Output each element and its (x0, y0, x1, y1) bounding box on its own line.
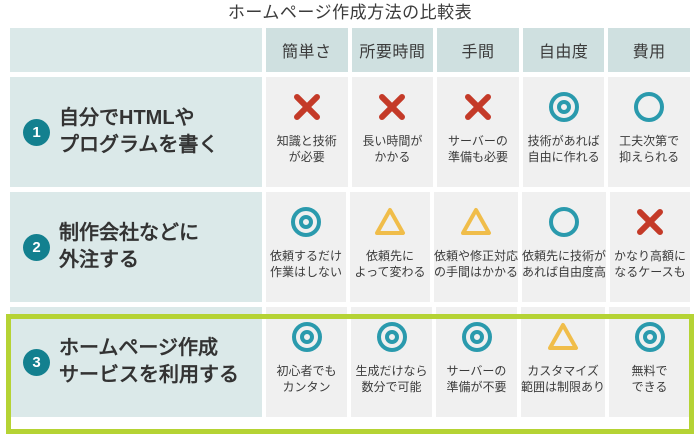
cell-caption: サーバーの 準備が不要 (446, 363, 506, 395)
caption-line2: 抑えられる (619, 149, 679, 165)
row-title-line2: サービスを利用する (59, 362, 239, 389)
caption-line1: 技術があれば (528, 133, 600, 149)
column-header-label: 手間 (461, 38, 494, 62)
caption-line2: 数分で可能 (355, 379, 427, 395)
cell-caption: 依頼先に技術が あれば自由度高 (522, 248, 606, 280)
circle-icon (547, 196, 581, 248)
double-circle-icon (460, 311, 494, 363)
caption-line2: カンタン (276, 379, 336, 395)
cell-caption: 技術があれば 自由に作れる (528, 133, 600, 165)
header-corner-cell (10, 28, 262, 72)
comparison-table-figure: ホームページ作成方法の比較表 簡単さ 所要時間 手間 自由度 費用 (0, 0, 700, 441)
table-cell: 依頼や修正対応 の手間はかかる (434, 192, 518, 302)
caption-line2: なるケースも (614, 264, 686, 280)
cross-icon (290, 81, 324, 133)
triangle-icon (546, 311, 580, 363)
column-header-label: 自由度 (539, 38, 589, 62)
caption-line2: 自由に作れる (528, 149, 600, 165)
row-number-badge: 2 (23, 234, 50, 261)
caption-line2: 準備が不要 (446, 379, 506, 395)
table-cell: 初心者でも カンタン (266, 307, 347, 417)
caption-line2: よって変わる (354, 264, 425, 280)
circle-icon (632, 81, 666, 133)
row-title: 自分でHTMLや プログラムを書く (59, 105, 218, 159)
row-number-badge: 3 (23, 349, 50, 376)
table-row: 1 自分でHTMLや プログラムを書く 知識と技術 が必要 (10, 77, 690, 187)
table-cell: 依頼先に技術が あれば自由度高 (522, 192, 606, 302)
row-number-badge: 1 (23, 119, 50, 146)
cell-caption: 無料で できる (632, 363, 668, 395)
cross-icon (461, 81, 495, 133)
cell-caption: 依頼するだけ 作業はしない (270, 248, 342, 280)
row-label-cell: 1 自分でHTMLや プログラムを書く (10, 77, 262, 187)
triangle-icon (459, 196, 493, 248)
table-cell: サーバーの 準備も必要 (437, 77, 519, 187)
cell-caption: カスタマイズ 範囲は制限あり (521, 363, 605, 395)
table-cell: カスタマイズ 範囲は制限あり (521, 307, 605, 417)
caption-line1: カスタマイズ (521, 363, 605, 379)
table-cell: かなり高額に なるケースも (610, 192, 690, 302)
column-header-label: 所要時間 (359, 38, 425, 62)
triangle-icon (373, 196, 407, 248)
row-title-line1: 制作会社などに (59, 220, 199, 247)
caption-line1: 無料で (632, 363, 668, 379)
caption-line1: 依頼や修正対応 (434, 248, 518, 264)
double-circle-icon (290, 311, 324, 363)
caption-line1: 依頼するだけ (270, 248, 342, 264)
caption-line1: 工夫次第で (619, 133, 679, 149)
cross-icon (375, 81, 409, 133)
table-row: 2 制作会社などに 外注する 依頼するだけ 作業はしない (10, 192, 690, 302)
column-header-effort: 手間 (437, 28, 519, 72)
row-label-cell: 3 ホームページ作成 サービスを利用する (10, 307, 262, 417)
row-title-line1: ホームページ作成 (59, 335, 239, 362)
caption-line1: 知識と技術 (277, 133, 337, 149)
caption-line1: 生成だけなら (355, 363, 427, 379)
cell-caption: 知識と技術 が必要 (277, 133, 337, 165)
cell-caption: 工夫次第で 抑えられる (619, 133, 679, 165)
table-cell: 長い時間が かかる (352, 77, 434, 187)
caption-line1: 長い時間が (362, 133, 422, 149)
table-cell: 技術があれば 自由に作れる (523, 77, 605, 187)
cell-caption: 長い時間が かかる (362, 133, 422, 165)
cell-caption: 依頼や修正対応 の手間はかかる (434, 248, 518, 280)
column-header-label: 簡単さ (282, 38, 332, 62)
caption-line1: かなり高額に (614, 248, 686, 264)
cell-caption: 生成だけなら 数分で可能 (355, 363, 427, 395)
row-label-cell: 2 制作会社などに 外注する (10, 192, 262, 302)
page-title: ホームページ作成方法の比較表 (0, 1, 700, 25)
cell-caption: 初心者でも カンタン (276, 363, 336, 395)
double-circle-icon (375, 311, 409, 363)
cross-icon (633, 196, 667, 248)
column-header-cost: 費用 (608, 28, 690, 72)
double-circle-icon (633, 311, 667, 363)
double-circle-icon (547, 81, 581, 133)
caption-line1: 初心者でも (276, 363, 336, 379)
row-title: ホームページ作成 サービスを利用する (59, 335, 239, 389)
table-header-row: 簡単さ 所要時間 手間 自由度 費用 (10, 28, 690, 72)
cell-caption: サーバーの 準備も必要 (448, 133, 508, 165)
table-cell: サーバーの 準備が不要 (436, 307, 517, 417)
caption-line1: サーバーの (446, 363, 506, 379)
caption-line2: が必要 (277, 149, 337, 165)
caption-line1: サーバーの (448, 133, 508, 149)
table-cell: 知識と技術 が必要 (266, 77, 348, 187)
caption-line2: あれば自由度高 (522, 264, 606, 280)
table-cell: 工夫次第で 抑えられる (608, 77, 690, 187)
table-row: 3 ホームページ作成 サービスを利用する 初心者でも カンタン (10, 307, 690, 417)
table-cell: 無料で できる (609, 307, 690, 417)
row-title-line2: 外注する (59, 247, 199, 274)
cell-caption: かなり高額に なるケースも (614, 248, 686, 280)
caption-line1: 依頼先に (354, 248, 425, 264)
double-circle-icon (289, 196, 323, 248)
column-header-label: 費用 (633, 38, 666, 62)
caption-line2: かかる (362, 149, 422, 165)
table-cell: 依頼するだけ 作業はしない (266, 192, 346, 302)
caption-line2: できる (632, 379, 668, 395)
caption-line2: 範囲は制限あり (521, 379, 605, 395)
caption-line1: 依頼先に技術が (522, 248, 606, 264)
row-title: 制作会社などに 外注する (59, 220, 199, 274)
column-header-freedom: 自由度 (523, 28, 605, 72)
row-title-line1: 自分でHTMLや (59, 105, 218, 132)
column-header-ease: 簡単さ (266, 28, 348, 72)
caption-line2: 準備も必要 (448, 149, 508, 165)
caption-line2: 作業はしない (270, 264, 342, 280)
column-header-time: 所要時間 (352, 28, 434, 72)
cell-caption: 依頼先に よって変わる (354, 248, 425, 280)
table-cell: 依頼先に よって変わる (350, 192, 430, 302)
row-title-line2: プログラムを書く (59, 132, 218, 159)
caption-line2: の手間はかかる (434, 264, 518, 280)
table-cell: 生成だけなら 数分で可能 (351, 307, 432, 417)
comparison-table: 簡単さ 所要時間 手間 自由度 費用 1 自分でHTMLや プログラムを書く (10, 28, 690, 434)
